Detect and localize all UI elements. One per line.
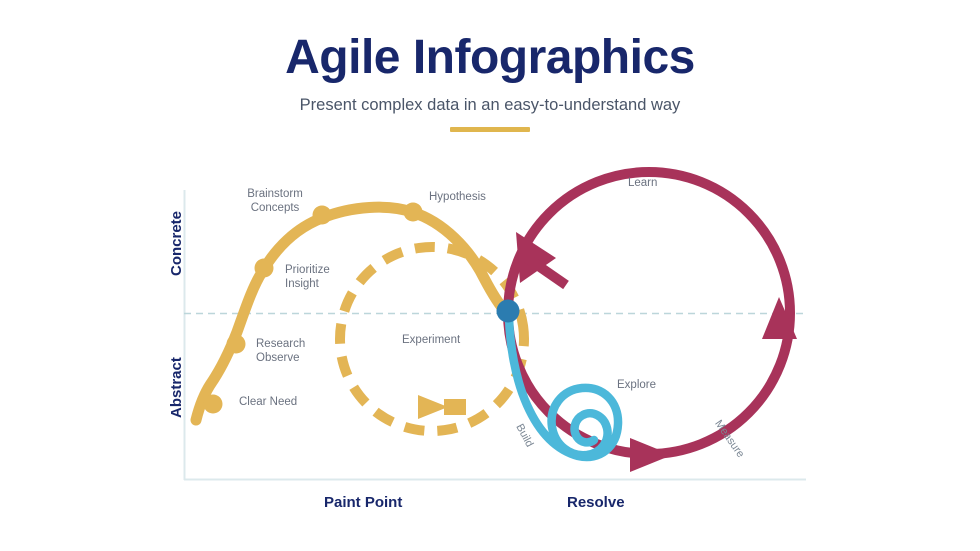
gold-node-research-observe xyxy=(227,335,246,354)
red-arrowhead-learn xyxy=(516,232,566,285)
axis-label-abstract: Abstract xyxy=(168,357,185,418)
label-learn: Learn xyxy=(628,176,657,190)
label-research-observe: Research Observe xyxy=(256,337,305,366)
red-arrowhead-build xyxy=(630,438,672,472)
gold-node-hypothesis xyxy=(404,203,423,222)
label-brainstorm-concepts: Brainstorm Concepts xyxy=(230,187,320,216)
gold-node-prioritize-insight xyxy=(255,259,274,278)
axis-label-paint-point: Paint Point xyxy=(324,494,402,511)
label-experiment: Experiment xyxy=(402,333,460,347)
axis-label-concrete: Concrete xyxy=(168,211,185,276)
axis-label-resolve: Resolve xyxy=(567,494,625,511)
diagram-graphics xyxy=(0,0,980,551)
gold-node-clear-need xyxy=(204,395,223,414)
label-clear-need: Clear Need xyxy=(239,395,297,409)
junction-dot xyxy=(497,300,520,323)
label-explore: Explore xyxy=(617,378,656,392)
infographic-canvas: Agile Infographics Present complex data … xyxy=(0,0,980,551)
label-prioritize-insight: Prioritize Insight xyxy=(285,263,330,292)
experiment-loop-arrowhead xyxy=(418,395,448,419)
label-hypothesis: Hypothesis xyxy=(429,190,486,204)
gold-curve xyxy=(196,207,506,420)
experiment-loop-arrow-tail xyxy=(444,399,466,415)
